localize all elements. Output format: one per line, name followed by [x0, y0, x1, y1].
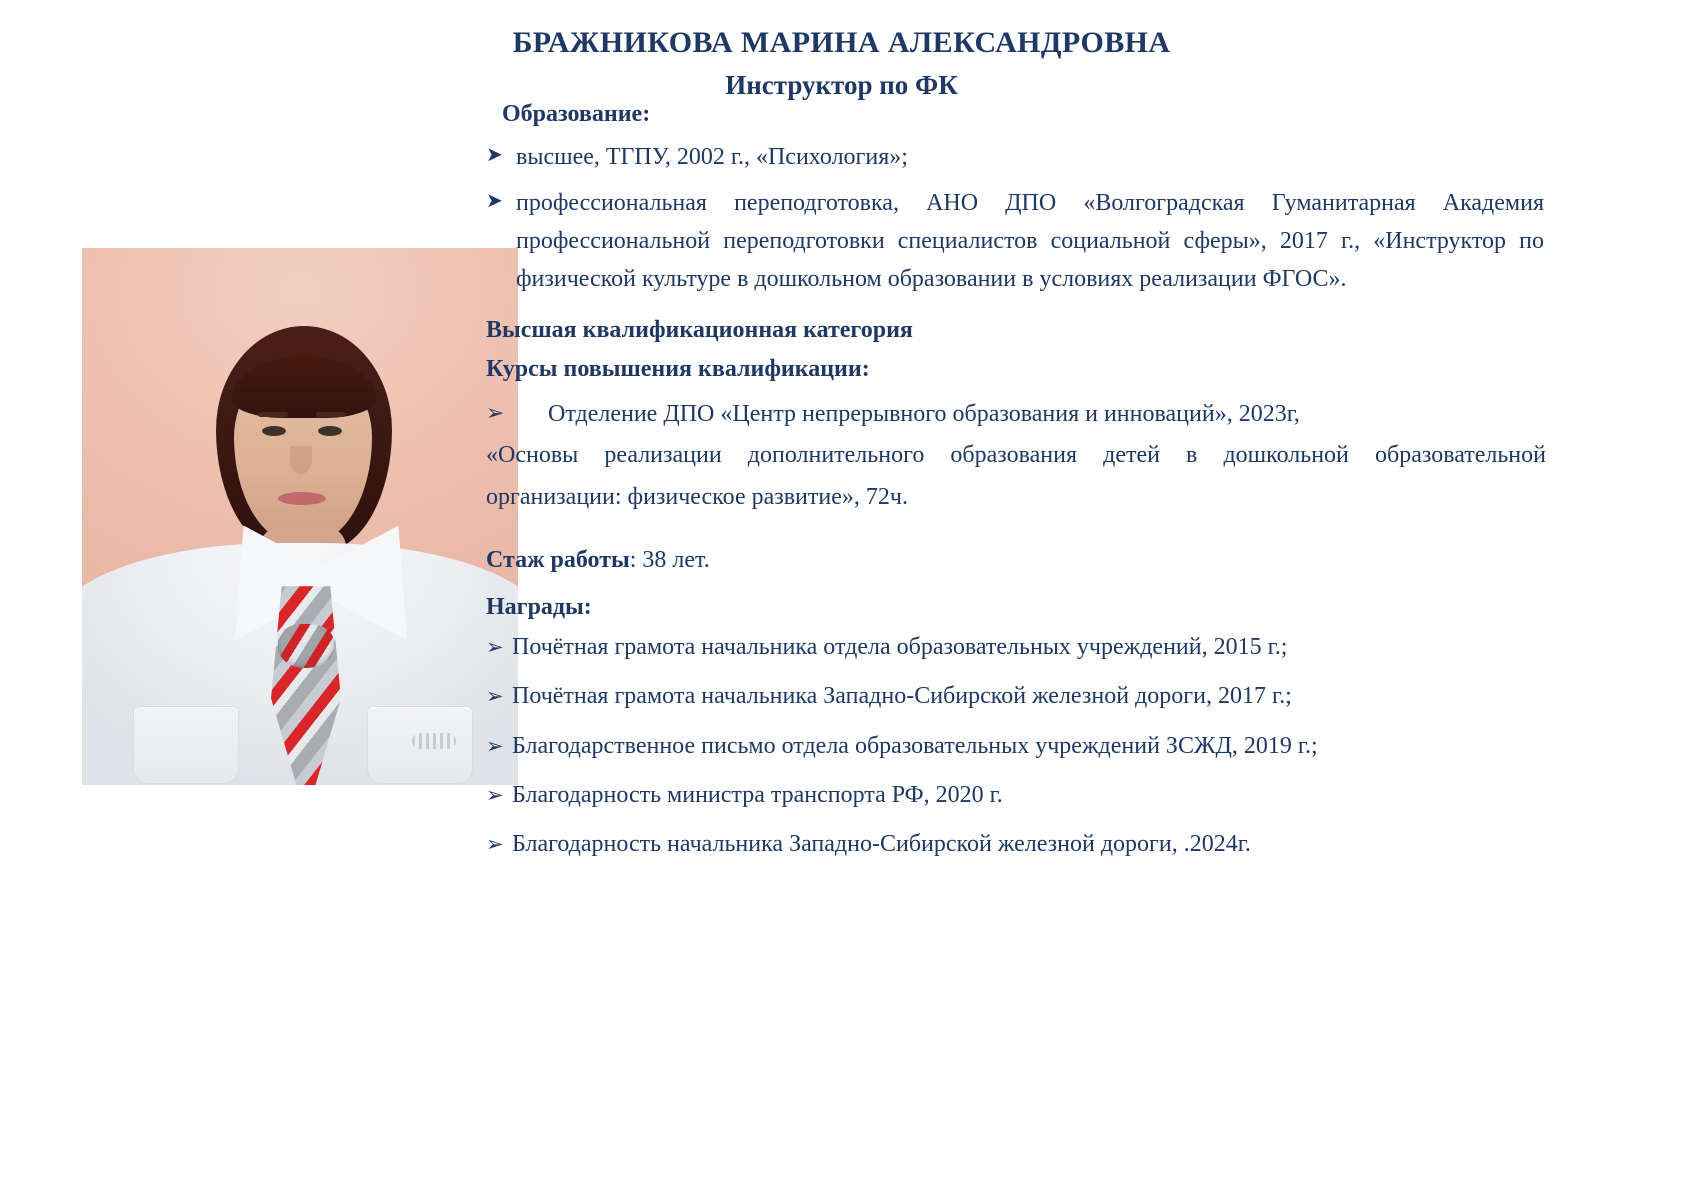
award-item-1: ➢ Почётная грамота начальника отдела обр…	[486, 632, 1546, 663]
slide-header: БРАЖНИКОВА МАРИНА АЛЕКСАНДРОВНА Инструкт…	[0, 24, 1683, 103]
courses-lead-row: ➢ Отделение ДПО «Центр непрерывного обра…	[486, 394, 1546, 435]
nose-shape	[290, 446, 312, 474]
slide-root: { "header": { "name": "БРАЖНИКОВА МАРИНА…	[0, 0, 1683, 1190]
award-item-2: ➢ Почётная грамота начальника Западно-Си…	[486, 681, 1546, 712]
pocket-embroidery	[412, 733, 456, 749]
bullet-filled-arrow-icon: ➤	[486, 139, 516, 171]
bullet-outline-arrow-icon: ➢	[486, 634, 512, 661]
bullet-outline-arrow-icon: ➢	[486, 831, 512, 858]
experience-label: Стаж работы	[486, 547, 630, 573]
eyebrow-left	[258, 412, 288, 417]
education-item-2-text: профессиональная переподготовка, АНО ДПО…	[516, 185, 1546, 299]
award-item-4: ➢ Благодарность министра транспорта РФ, …	[486, 780, 1546, 811]
page-title: БРАЖНИКОВА МАРИНА АЛЕКСАНДРОВНА	[0, 24, 1683, 62]
content-column: Образование: ➤ высшее, ТГПУ, 2002 г., «П…	[486, 100, 1546, 878]
bullet-outline-arrow-icon: ➢	[486, 733, 512, 760]
bullet-filled-arrow-icon: ➤	[486, 185, 516, 217]
courses-lead-text: Отделение ДПО «Центр непрерывного образо…	[548, 394, 1546, 435]
education-item-1: ➤ высшее, ТГПУ, 2002 г., «Психология»;	[486, 139, 1546, 177]
mouth-shape	[278, 492, 326, 505]
awards-heading: Награды:	[486, 593, 1546, 622]
portrait-photo	[82, 248, 518, 785]
award-item-1-text: Почётная грамота начальника отдела образ…	[512, 632, 1546, 663]
award-item-3-text: Благодарственное письмо отдела образоват…	[512, 731, 1546, 762]
experience-value: : 38 лет.	[630, 547, 710, 573]
education-item-1-text: высшее, ТГПУ, 2002 г., «Психология»;	[516, 139, 1546, 177]
qualification-category-heading: Высшая квалификационная категория	[486, 316, 1546, 345]
award-item-5: ➢ Благодарность начальника Западно-Сибир…	[486, 829, 1546, 860]
photo-background	[82, 248, 518, 785]
education-item-2: ➤ профессиональная переподготовка, АНО Д…	[486, 185, 1546, 299]
award-item-4-text: Благодарность министра транспорта РФ, 20…	[512, 780, 1546, 811]
bullet-outline-arrow-icon: ➢	[486, 394, 548, 432]
blouse-pocket-left	[134, 707, 238, 783]
award-item-2-text: Почётная грамота начальника Западно-Сиби…	[512, 681, 1546, 712]
blouse-pocket-right	[368, 707, 472, 783]
scarf-knot	[278, 624, 334, 668]
award-item-3: ➢ Благодарственное письмо отдела образов…	[486, 731, 1546, 762]
bullet-outline-arrow-icon: ➢	[486, 683, 512, 710]
courses-heading: Курсы повышения квалификации:	[486, 355, 1546, 384]
eye-left	[262, 426, 286, 436]
eye-right	[318, 426, 342, 436]
experience-line: Стаж работы: 38 лет.	[486, 544, 1546, 578]
bullet-outline-arrow-icon: ➢	[486, 782, 512, 809]
page-subtitle: Инструктор по ФК	[0, 68, 1683, 103]
eyebrow-right	[316, 412, 346, 417]
courses-body-text: «Основы реализации дополнительного образ…	[486, 435, 1546, 518]
education-heading: Образование:	[502, 100, 1546, 129]
award-item-5-text: Благодарность начальника Западно-Сибирск…	[512, 829, 1546, 860]
